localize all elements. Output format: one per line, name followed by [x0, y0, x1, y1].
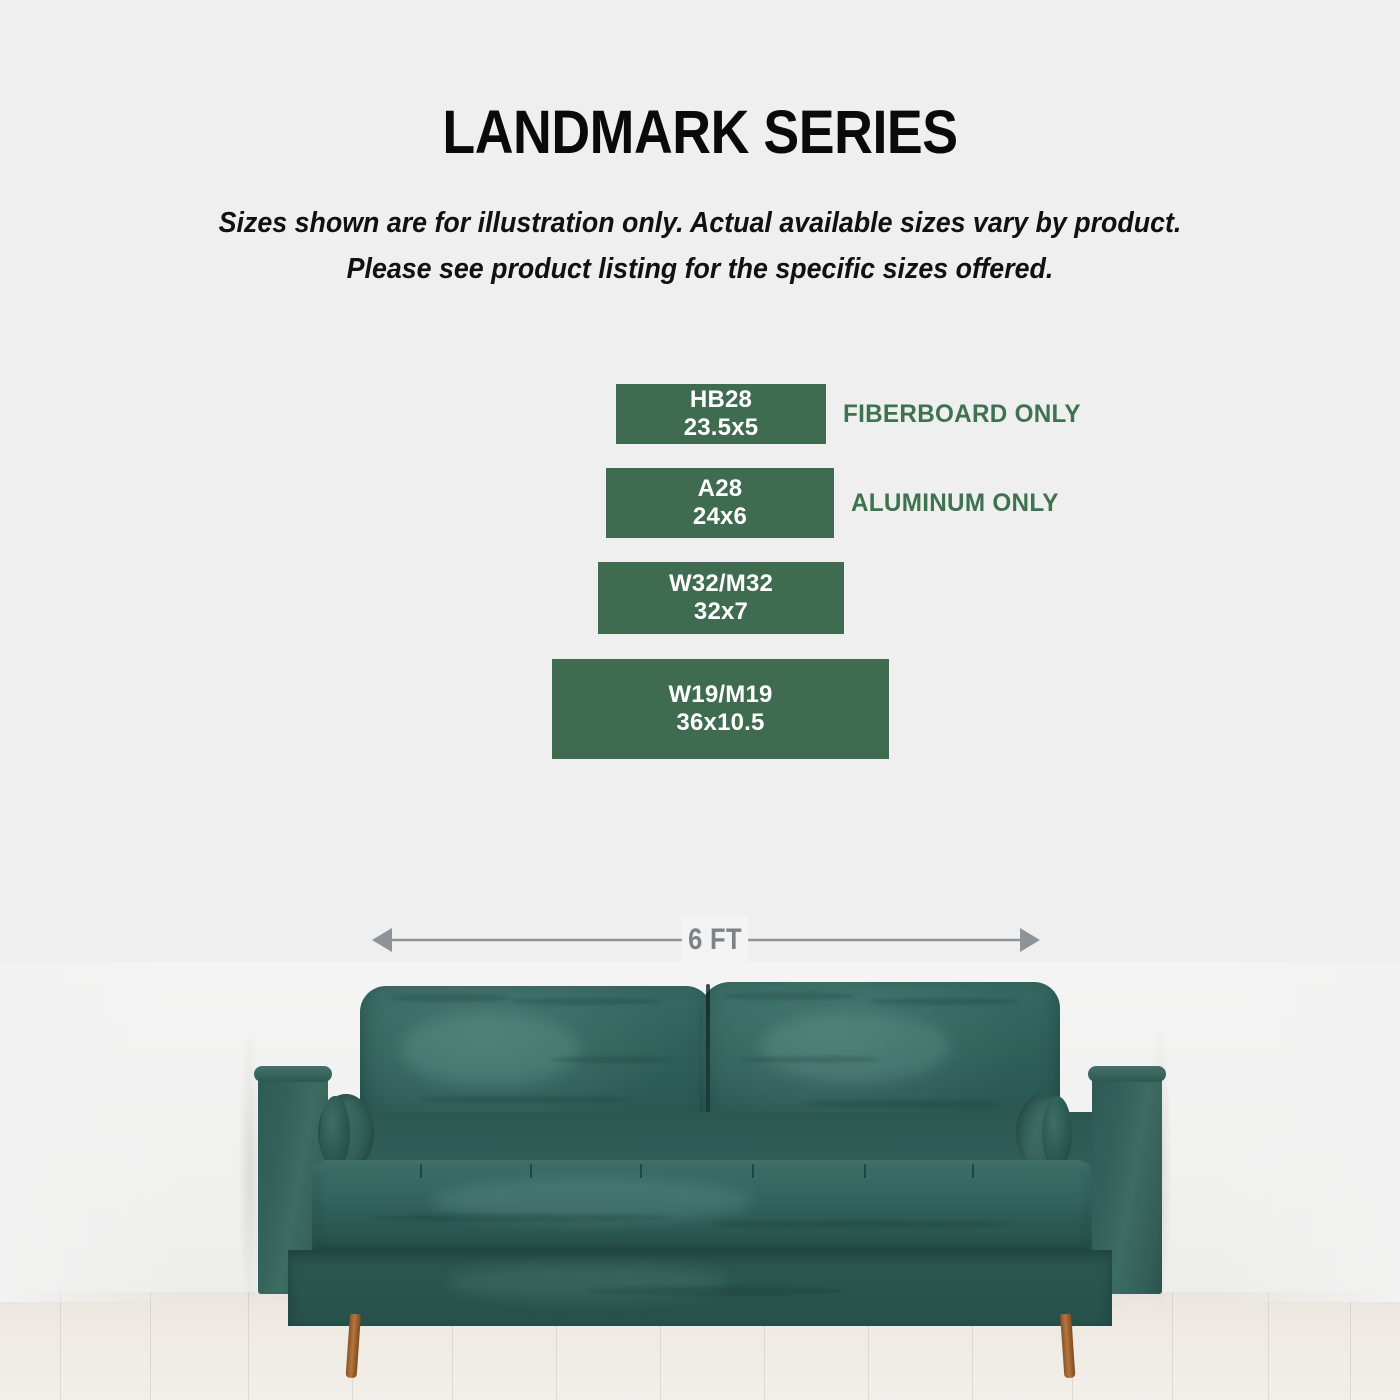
size-bar-code: W32/M32 [669, 570, 773, 598]
size-bar-dimensions: 23.5x5 [684, 414, 759, 442]
sofa-seat-cushion [312, 1160, 1092, 1254]
size-bar-dimensions: 32x7 [694, 598, 748, 626]
sofa-base-skirt [288, 1250, 1112, 1326]
sofa-arm-top-left [254, 1066, 332, 1082]
size-bar-w19-m19: W19/M19 36x10.5 [552, 659, 889, 759]
sofa-bolster-cap-left [320, 1096, 350, 1170]
size-bar-code: W19/M19 [668, 681, 772, 709]
size-bar-note-aluminum: ALUMINUM ONLY [851, 489, 1059, 518]
size-bar-code: HB28 [690, 386, 752, 414]
size-bar-code: A28 [698, 475, 743, 503]
size-bar-dimensions: 36x10.5 [676, 709, 764, 737]
size-bar-chart: HB28 23.5x5 FIBERBOARD ONLY A28 24x6 ALU… [0, 0, 1400, 800]
scale-label: 6 FT [682, 915, 748, 965]
sofa-bolster-cap-right [1042, 1096, 1072, 1170]
size-bar-w32-m32: W32/M32 32x7 [598, 562, 844, 634]
size-bar-a28: A28 24x6 [606, 468, 834, 538]
size-bar-note-fiberboard: FIBERBOARD ONLY [843, 400, 1081, 429]
sofa-arm-top-right [1088, 1066, 1166, 1082]
size-bar-dimensions: 24x6 [693, 503, 747, 531]
size-bar-hb28: HB28 23.5x5 [616, 384, 826, 444]
sofa-illustration [0, 962, 1400, 1400]
infographic-page: LANDMARK SERIES Sizes shown are for illu… [0, 0, 1400, 1400]
scene-fade-left [0, 962, 180, 1302]
scene-fade-right [1220, 962, 1400, 1302]
sofa-scene [0, 962, 1400, 1400]
